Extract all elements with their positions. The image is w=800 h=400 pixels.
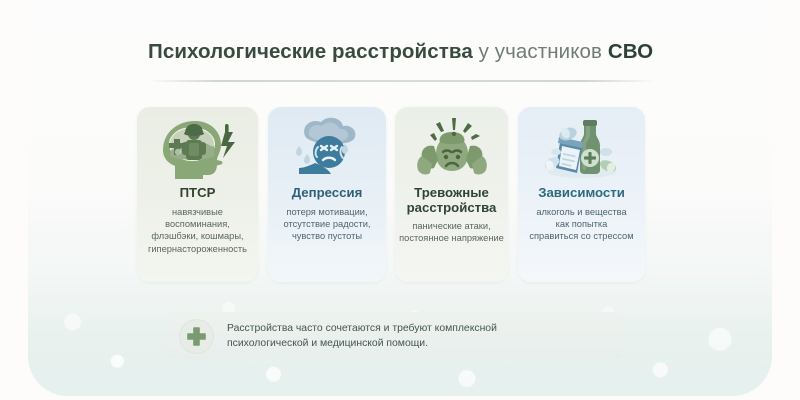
footer-line: Расстройства часто сочетаются и требуют … bbox=[227, 321, 497, 336]
stressed-head-hands-icon bbox=[410, 113, 494, 183]
sad-face-rain-cloud-icon bbox=[285, 113, 369, 183]
desc-line: постоянное напряжение bbox=[399, 232, 504, 244]
footer-line: психологической и медицинской помощи. bbox=[227, 336, 497, 351]
title-middle: у участников bbox=[473, 40, 608, 63]
card-ptsr[interactable]: ПТСР навязчивые воспоминания, флэшбэки, … bbox=[137, 107, 258, 282]
desc-line: навязчивые bbox=[148, 206, 247, 218]
card-title: ПТСР bbox=[180, 186, 216, 201]
medical-cross-icon bbox=[179, 319, 214, 354]
card-title: Тревожные расстройства bbox=[407, 186, 497, 215]
card-zavisimosti[interactable]: Зависимости алкоголь и вещества как попы… bbox=[518, 107, 645, 282]
desc-line: панические атаки, bbox=[399, 220, 504, 232]
footer-note-banner: Расстройства часто сочетаются и требуют … bbox=[165, 312, 624, 360]
title-text: Психологические расстройства у участнико… bbox=[148, 40, 658, 64]
desc-line: флэшбэки, кошмары, bbox=[148, 230, 247, 242]
page-title: Психологические расстройства у участнико… bbox=[148, 40, 658, 64]
bottle-pills-icon bbox=[538, 113, 626, 183]
card-title: Зависимости bbox=[538, 186, 625, 201]
desc-line: отсутствие радости, bbox=[284, 218, 371, 230]
title-divider bbox=[148, 80, 656, 82]
desc-line: потеря мотивации, bbox=[284, 206, 371, 218]
desc-line: алкоголь и вещества bbox=[529, 206, 633, 218]
desc-line: справиться со стрессом bbox=[529, 230, 633, 242]
infographic-canvas: Психологические расстройства у участнико… bbox=[0, 0, 800, 400]
title-tail: СВО bbox=[608, 40, 653, 63]
cards-row: ПТСР навязчивые воспоминания, флэшбэки, … bbox=[137, 107, 657, 282]
card-description: потеря мотивации, отсутствие радости, чу… bbox=[280, 206, 375, 243]
card-title-line: Тревожные bbox=[407, 186, 497, 201]
card-depressiya[interactable]: Депрессия потеря мотивации, отсутствие р… bbox=[268, 107, 386, 282]
desc-line: гипернастороженность bbox=[148, 243, 247, 255]
head-soldier-flashback-icon bbox=[155, 113, 241, 183]
card-description: алкоголь и вещества как попытка справить… bbox=[525, 206, 637, 243]
title-strong: Психологические расстройства bbox=[148, 40, 473, 63]
desc-line: воспоминания, bbox=[148, 218, 247, 230]
desc-line: как попытка bbox=[529, 218, 633, 230]
card-description: навязчивые воспоминания, флэшбэки, кошма… bbox=[144, 206, 251, 256]
card-description: панические атаки, постоянное напряжение bbox=[395, 220, 508, 245]
footer-note-text: Расстройства часто сочетаются и требуют … bbox=[227, 321, 497, 351]
card-trevozhnye-rasstroystva[interactable]: Тревожные расстройства панические атаки,… bbox=[395, 107, 508, 282]
desc-line: чувство пустоты bbox=[284, 230, 371, 242]
card-title: Депрессия bbox=[292, 186, 363, 201]
card-title-line: расстройства bbox=[407, 201, 497, 216]
